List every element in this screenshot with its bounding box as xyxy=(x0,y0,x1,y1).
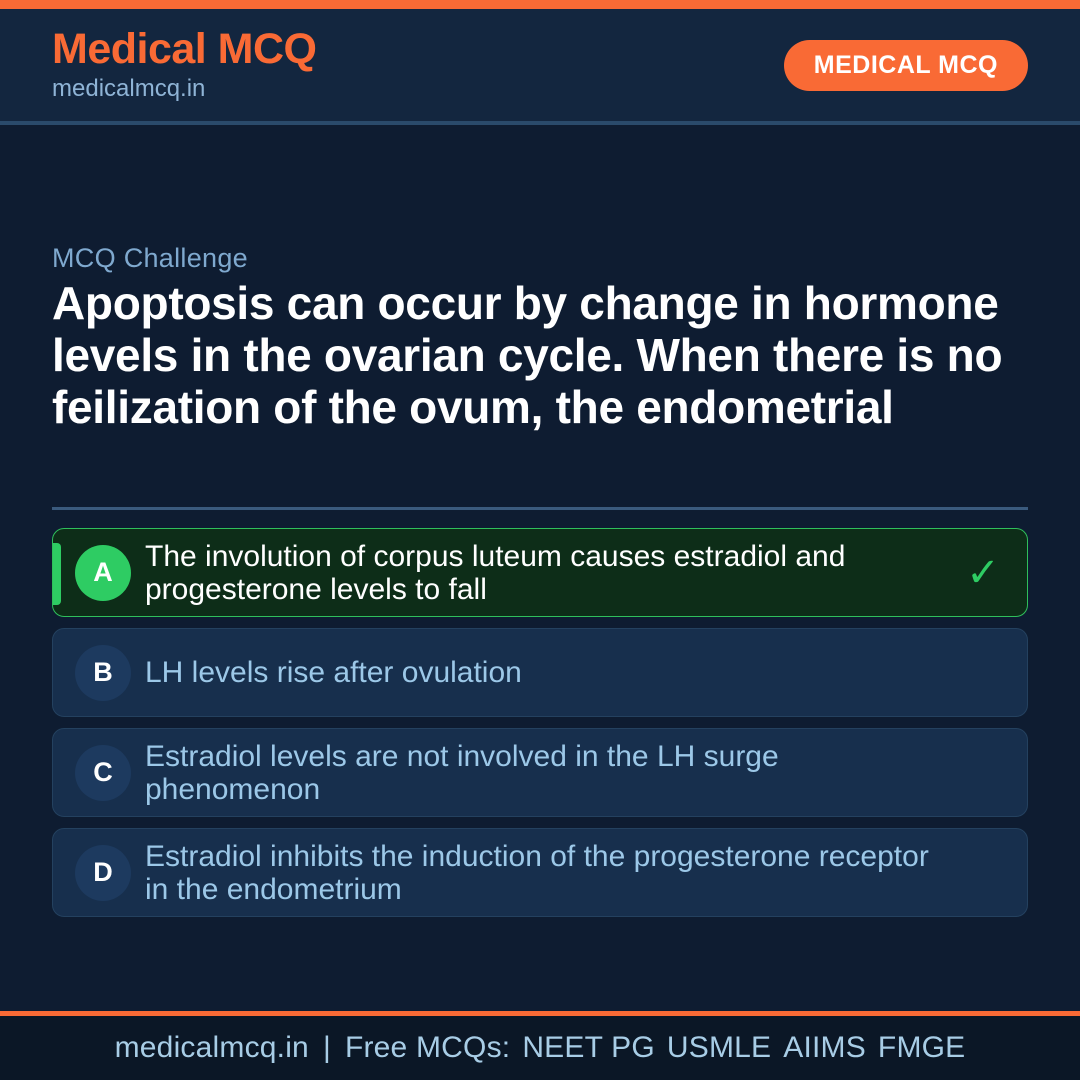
options-list: A The involution of corpus luteum causes… xyxy=(52,528,1028,917)
brand-subtitle: medicalmcq.in xyxy=(52,74,317,104)
footer-tag-aiims: AIIMS xyxy=(783,1031,866,1064)
option-badge-b: B xyxy=(75,645,131,701)
option-text-c: Estradiol levels are not involved in the… xyxy=(145,740,961,806)
option-text-d: Estradiol inhibits the induction of the … xyxy=(145,840,961,906)
footer-tag-usmle: USMLE xyxy=(667,1031,771,1064)
footer-separator: | xyxy=(309,1031,345,1064)
footer-tags: NEET PGUSMLEAIIMSFMGE xyxy=(510,1031,965,1064)
option-row-d[interactable]: D Estradiol inhibits the induction of th… xyxy=(52,828,1028,917)
brand-block: Medical MCQ medicalmcq.in xyxy=(52,26,317,104)
mcq-kicker-label: MCQ Challenge xyxy=(52,243,248,274)
page-footer: medicalmcq.in|Free MCQs:NEET PGUSMLEAIIM… xyxy=(0,1016,1080,1080)
question-divider xyxy=(52,507,1028,510)
option-row-c[interactable]: C Estradiol levels are not involved in t… xyxy=(52,728,1028,817)
option-text-b: LH levels rise after ovulation xyxy=(145,656,961,689)
correct-accent-bar xyxy=(53,543,61,605)
footer-label: Free MCQs: xyxy=(345,1031,510,1064)
top-accent-bar xyxy=(0,0,1080,9)
option-row-a[interactable]: A The involution of corpus luteum causes… xyxy=(52,528,1028,617)
check-icon: ✓ xyxy=(961,553,1005,593)
footer-tag-neetpg: NEET PG xyxy=(522,1031,655,1064)
footer-site: medicalmcq.in xyxy=(115,1031,309,1064)
option-badge-d: D xyxy=(75,845,131,901)
page-header: Medical MCQ medicalmcq.in MEDICAL MCQ xyxy=(0,9,1080,121)
brand-title: Medical MCQ xyxy=(52,26,317,72)
option-badge-a: A xyxy=(75,545,131,601)
main-content: MCQ Challenge Apoptosis can occur by cha… xyxy=(0,125,1080,1011)
question-text: Apoptosis can occur by change in hormone… xyxy=(52,277,1032,433)
option-badge-c: C xyxy=(75,745,131,801)
footer-text: medicalmcq.in|Free MCQs:NEET PGUSMLEAIIM… xyxy=(115,1031,966,1065)
brand-badge: MEDICAL MCQ xyxy=(784,40,1028,91)
option-row-b[interactable]: B LH levels rise after ovulation xyxy=(52,628,1028,717)
option-text-a: The involution of corpus luteum causes e… xyxy=(145,540,961,606)
footer-tag-fmge: FMGE xyxy=(878,1031,965,1064)
